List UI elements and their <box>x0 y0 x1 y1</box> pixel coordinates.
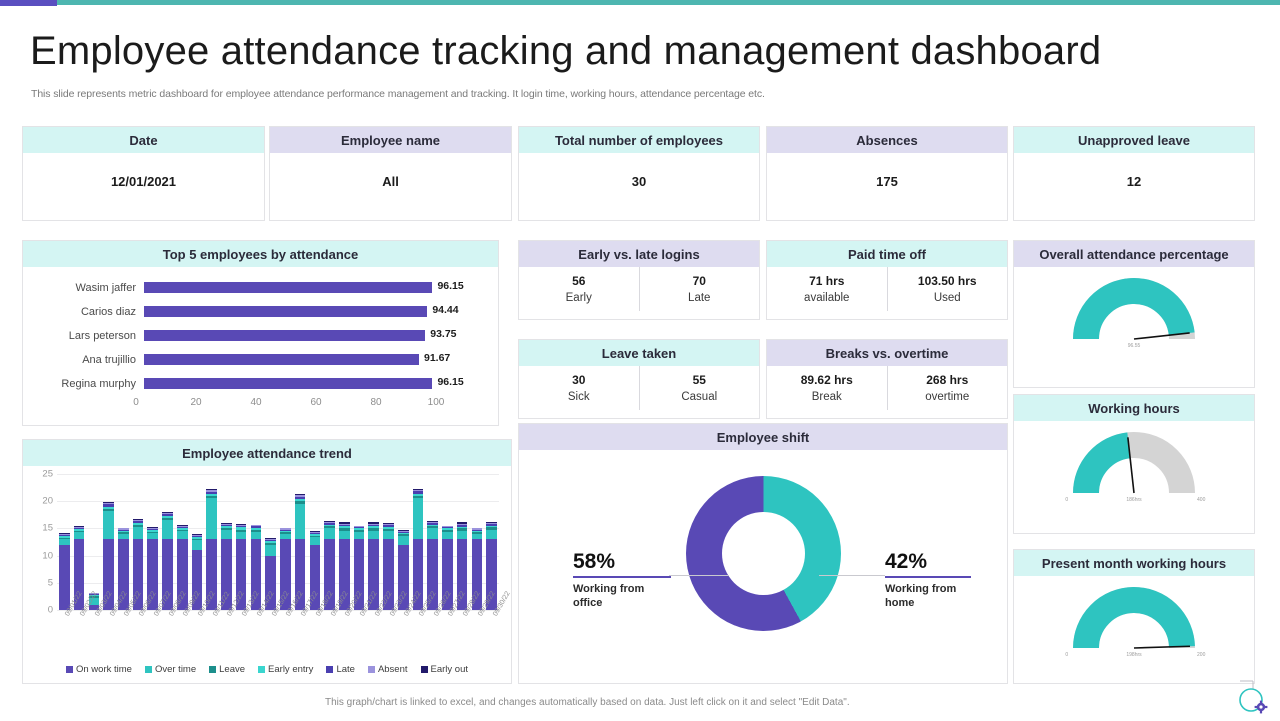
trend-bar-column <box>160 474 175 610</box>
card-title: Early vs. late logins <box>519 241 759 267</box>
trend-bar-segment <box>413 498 424 539</box>
kpi-label: Total number of employees <box>519 127 759 153</box>
card-title: Employee shift <box>519 424 1007 450</box>
top5-bar-value: 94.44 <box>432 304 458 316</box>
top5-bar-chart: Wasim jaffer96.15Carios diaz94.44Lars pe… <box>23 267 498 394</box>
top5-bar-value: 93.75 <box>430 328 456 340</box>
top5-x-tick: 60 <box>310 397 321 408</box>
kpi-card-employee-name: Employee name All <box>269 126 512 221</box>
legend-item: Late <box>326 664 355 675</box>
stat-label: Used <box>934 290 961 306</box>
stat-right: 55 Casual <box>640 366 760 410</box>
top5-bar-fill <box>144 306 427 317</box>
trend-bar-column <box>175 474 190 610</box>
gauge-value-label: 198hrs <box>1126 652 1141 658</box>
trend-bar-segment <box>295 504 306 539</box>
top5-x-tick: 40 <box>250 397 261 408</box>
top5-bar-fill <box>144 330 425 341</box>
gauge-tick: 200 <box>1197 652 1205 658</box>
footer-note: This graph/chart is linked to excel, and… <box>325 697 1025 708</box>
trend-x-tick-cell: 09/13/22 <box>234 612 249 658</box>
stat-card-early-late-logins: Early vs. late logins 56 Early 70 Late <box>518 240 760 320</box>
stat-left: 89.62 hrs Break <box>767 366 888 410</box>
top5-bar-label: Wasim jaffer <box>23 282 144 294</box>
gauge-value-label: 96.55 <box>1128 343 1141 349</box>
stat-right: 268 hrs overtime <box>888 366 1008 410</box>
trend-bar-column <box>219 474 234 610</box>
trend-x-tick-cell: 09/10/22 <box>190 612 205 658</box>
card-title: Present month working hours <box>1014 550 1254 576</box>
donut-leader-right <box>819 575 885 576</box>
gauge-value-label: 186hrs <box>1126 497 1141 503</box>
trend-bar-column <box>86 474 101 610</box>
stat-label: Casual <box>681 389 717 405</box>
trend-bar-segment <box>310 537 321 545</box>
trend-bars <box>57 474 499 610</box>
trend-bar-column <box>440 474 455 610</box>
top5-bar-track: 94.44 <box>144 301 498 322</box>
stat-value: 268 hrs <box>926 372 968 389</box>
top5-bar-value: 96.15 <box>437 376 463 388</box>
legend-item: Leave <box>209 664 245 675</box>
top5-bar-track: 93.75 <box>144 325 498 346</box>
stat-left: 56 Early <box>519 267 640 311</box>
top5-bar-fill <box>144 378 432 389</box>
stat-value: 30 <box>572 372 585 389</box>
trend-bar-segment <box>265 545 276 556</box>
trend-bar-segment <box>354 532 365 540</box>
top5-bar-row: Lars peterson93.75 <box>23 325 498 346</box>
gauge-tick: 400 <box>1197 497 1205 503</box>
legend-swatch <box>326 666 333 673</box>
trend-x-tick-cell: 09/28/22 <box>455 612 470 658</box>
trend-bar-column <box>396 474 411 610</box>
trend-bar-segment <box>133 527 144 539</box>
trend-y-tick: 10 <box>42 550 53 561</box>
legend-swatch <box>66 666 73 673</box>
card-title: Overall attendance percentage <box>1014 241 1254 267</box>
top5-x-tick: 0 <box>133 397 139 408</box>
kpi-label: Employee name <box>270 127 511 153</box>
gauge-overall-attendance: 96.55 <box>1014 267 1254 359</box>
top5-x-axis: 020406080100 <box>136 397 498 411</box>
stat-card-leave-taken: Leave taken 30 Sick 55 Casual <box>518 339 760 419</box>
trend-bar-column <box>72 474 87 610</box>
card-title: Paid time off <box>767 241 1007 267</box>
stat-label: overtime <box>925 389 969 405</box>
employee-shift-donut: 58% Working from office 42% Working from… <box>519 450 1007 662</box>
legend-item: Early out <box>421 664 469 675</box>
trend-bar-segment <box>427 528 438 539</box>
top5-x-tick: 20 <box>190 397 201 408</box>
donut-hole <box>722 512 805 595</box>
stat-right: 70 Late <box>640 267 760 311</box>
trend-bar-stack <box>59 533 70 610</box>
legend-label: Absent <box>378 664 408 675</box>
trend-bar-column <box>484 474 499 610</box>
kpi-card-unapproved-leave: Unapproved leave 12 <box>1013 126 1255 221</box>
trend-x-tick-cell: 09/12/22 <box>219 612 234 658</box>
trend-x-tick-cell: 09/27/22 <box>440 612 455 658</box>
gauge-ticks: 96.55 <box>1014 343 1254 355</box>
trend-x-tick-cell: 09/20/22 <box>337 612 352 658</box>
trend-bar-segment <box>103 511 114 539</box>
legend-label: Early out <box>431 664 469 675</box>
top5-bar-row: Ana trujillio91.67 <box>23 349 498 370</box>
stat-value: 56 <box>572 273 585 290</box>
top5-bar-fill <box>144 282 432 293</box>
trend-bar-segment <box>251 532 262 540</box>
trend-bar-column <box>204 474 219 610</box>
trend-x-tick-cell: 09/18/22 <box>307 612 322 658</box>
trend-x-axis: 09/01/2209/02/2209/03/2209/04/2209/05/22… <box>57 612 499 658</box>
top5-bar-label: Lars peterson <box>23 330 144 342</box>
legend-item: Over time <box>145 664 196 675</box>
trend-bar-column <box>381 474 396 610</box>
legend-label: On work time <box>76 664 132 675</box>
kpi-card-date: Date 12/01/2021 <box>22 126 265 221</box>
kpi-value: All <box>270 153 511 189</box>
trend-x-tick-cell: 09/17/22 <box>293 612 308 658</box>
trend-bar-segment <box>192 540 203 550</box>
trend-bar-column <box>455 474 470 610</box>
donut-caption: Working from home <box>885 582 971 610</box>
top5-bar-value: 96.15 <box>437 280 463 292</box>
page-subtitle: This slide represents metric dashboard f… <box>31 88 1131 100</box>
kpi-value: 30 <box>519 153 759 189</box>
legend-swatch <box>209 666 216 673</box>
card-title: Top 5 employees by attendance <box>23 241 498 267</box>
trend-bar-segment <box>486 530 497 540</box>
trend-x-tick-cell: 09/11/22 <box>204 612 219 658</box>
donut-pct: 42% <box>885 550 971 574</box>
legend-swatch <box>145 666 152 673</box>
trend-bar-column <box>131 474 146 610</box>
stat-label: Sick <box>568 389 590 405</box>
kpi-card-total-employees: Total number of employees 30 <box>518 126 760 221</box>
donut-caption: Working from office <box>573 582 671 610</box>
trend-bar-segment <box>177 531 188 539</box>
top5-bar-label: Regina murphy <box>23 378 144 390</box>
top-accent-segment <box>0 0 57 6</box>
trend-x-tick-cell: 09/03/22 <box>86 612 101 658</box>
top5-bar-label: Carios diaz <box>23 306 144 318</box>
stat-card-paid-time-off: Paid time off 71 hrs available 103.50 hr… <box>766 240 1008 320</box>
gauge-tick: 0 <box>1065 497 1068 503</box>
trend-bar-column <box>263 474 278 610</box>
top5-bar-row: Carios diaz94.44 <box>23 301 498 322</box>
top5-attendance-card: Top 5 employees by attendance Wasim jaff… <box>22 240 499 426</box>
page-title: Employee attendance tracking and managem… <box>30 29 1230 74</box>
card-title: Breaks vs. overtime <box>767 340 1007 366</box>
trend-bar-column <box>322 474 337 610</box>
top5-bar-label: Ana trujillio <box>23 354 144 366</box>
trend-bar-segment <box>442 532 453 540</box>
stat-left: 30 Sick <box>519 366 640 410</box>
top5-bar-track: 96.15 <box>144 277 498 298</box>
trend-bar-column <box>234 474 249 610</box>
stat-value: 70 <box>693 273 706 290</box>
legend-item: Early entry <box>258 664 313 675</box>
top5-bar-track: 96.15 <box>144 373 498 394</box>
trend-x-tick-cell: 09/05/22 <box>116 612 131 658</box>
employee-shift-card: Employee shift 58% Working from office 4… <box>518 423 1008 684</box>
trend-x-tick-cell: 09/25/22 <box>411 612 426 658</box>
card-title: Leave taken <box>519 340 759 366</box>
kpi-value: 175 <box>767 153 1007 189</box>
trend-bar-column <box>278 474 293 610</box>
trend-bar-segment <box>59 545 70 610</box>
trend-x-tick-cell: 09/02/22 <box>72 612 87 658</box>
trend-bar-segment <box>221 530 232 540</box>
legend-swatch <box>368 666 375 673</box>
top5-bar-value: 91.67 <box>424 352 450 364</box>
kpi-card-absences: Absences 175 <box>766 126 1008 221</box>
stat-label: Break <box>812 389 842 405</box>
trend-bar-segment <box>457 531 468 540</box>
trend-x-tick-cell: 09/16/22 <box>278 612 293 658</box>
trend-bar-column <box>307 474 322 610</box>
trend-bar-column <box>470 474 485 610</box>
gauge-card-present-month: Present month working hours 0198hrs200 <box>1013 549 1255 684</box>
legend-label: Late <box>336 664 355 675</box>
legend-label: Over time <box>155 664 196 675</box>
trend-bar-column <box>293 474 308 610</box>
trend-x-tick-cell: 09/04/22 <box>101 612 116 658</box>
trend-bar-column <box>411 474 426 610</box>
underline <box>885 576 971 578</box>
trend-bar-segment <box>236 532 247 540</box>
stat-value: 55 <box>693 372 706 389</box>
trend-x-tick-cell: 09/01/22 <box>57 612 72 658</box>
trend-bar-column <box>101 474 116 610</box>
donut-label-office: 58% Working from office <box>573 550 671 610</box>
stat-label: Early <box>566 290 592 306</box>
trend-bar-segment <box>383 531 394 539</box>
kpi-label: Absences <box>767 127 1007 153</box>
trend-x-tick-cell: 09/06/22 <box>131 612 146 658</box>
trend-bar-segment <box>339 531 350 540</box>
legend-label: Early entry <box>268 664 313 675</box>
legend-swatch <box>258 666 265 673</box>
legend-swatch <box>421 666 428 673</box>
trend-x-tick-cell: 09/15/22 <box>263 612 278 658</box>
trend-bar-column <box>116 474 131 610</box>
gauge-tick: 0 <box>1065 652 1068 658</box>
gauge-ticks: 0198hrs200 <box>1014 652 1254 664</box>
top-accent-bar <box>0 0 1280 5</box>
legend-label: Leave <box>219 664 245 675</box>
trend-x-tick-cell: 09/29/22 <box>470 612 485 658</box>
stat-value: 103.50 hrs <box>918 273 977 290</box>
edit-data-gear-icon[interactable] <box>1234 680 1274 716</box>
trend-bar-column <box>366 474 381 610</box>
top5-bar-track: 91.67 <box>144 349 498 370</box>
gauge-present-month: 0198hrs200 <box>1014 576 1254 668</box>
stat-label: Late <box>688 290 710 306</box>
donut-leader-left <box>669 575 729 576</box>
stat-value: 71 hrs <box>809 273 844 290</box>
top5-bar-row: Regina murphy96.15 <box>23 373 498 394</box>
legend-item: On work time <box>66 664 132 675</box>
gauge-card-overall-attendance: Overall attendance percentage 96.55 <box>1013 240 1255 388</box>
gauge-arc <box>1071 427 1197 506</box>
trend-y-axis: 0510152025 <box>29 474 55 610</box>
trend-bar-column <box>249 474 264 610</box>
gauge-arc <box>1071 273 1197 352</box>
trend-bar-column <box>145 474 160 610</box>
kpi-label: Date <box>23 127 264 153</box>
trend-bar-segment <box>162 520 173 539</box>
trend-bar-column <box>57 474 72 610</box>
underline <box>573 576 671 578</box>
stat-right: 103.50 hrs Used <box>888 267 1008 311</box>
donut-label-home: 42% Working from home <box>885 550 971 610</box>
trend-x-tick-cell: 09/26/22 <box>425 612 440 658</box>
stat-card-breaks-overtime: Breaks vs. overtime 89.62 hrs Break 268 … <box>766 339 1008 419</box>
stat-left: 71 hrs available <box>767 267 888 311</box>
stat-label: available <box>804 290 849 306</box>
attendance-trend-card: Employee attendance trend 0510152025 09/… <box>22 439 512 684</box>
trend-x-tick-cell: 09/19/22 <box>322 612 337 658</box>
trend-y-tick: 20 <box>42 496 53 507</box>
card-title: Working hours <box>1014 395 1254 421</box>
trend-x-tick-cell: 09/21/22 <box>352 612 367 658</box>
trend-bar-segment <box>206 498 217 539</box>
trend-bar-column <box>337 474 352 610</box>
trend-bar-column <box>352 474 367 610</box>
kpi-value: 12 <box>1014 153 1254 189</box>
trend-y-tick: 25 <box>42 469 53 480</box>
trend-legend: On work timeOver timeLeaveEarly entryLat… <box>23 664 511 675</box>
trend-y-tick: 5 <box>48 577 53 588</box>
trend-x-tick-cell: 09/24/22 <box>396 612 411 658</box>
kpi-label: Unapproved leave <box>1014 127 1254 153</box>
stat-value: 89.62 hrs <box>801 372 853 389</box>
top5-bar-fill <box>144 354 419 365</box>
trend-bar-column <box>190 474 205 610</box>
top5-x-tick: 80 <box>370 397 381 408</box>
kpi-value: 12/01/2021 <box>23 153 264 189</box>
donut-pct: 58% <box>573 550 671 574</box>
gauge-ticks: 0186hrs400 <box>1014 497 1254 509</box>
top5-bar-row: Wasim jaffer96.15 <box>23 277 498 298</box>
gauge-arc <box>1071 582 1197 661</box>
top5-x-tick: 100 <box>428 397 445 408</box>
trend-bar-column <box>425 474 440 610</box>
trend-x-tick-cell: 09/08/22 <box>160 612 175 658</box>
gauge-working-hours: 0186hrs400 <box>1014 421 1254 513</box>
trend-x-tick-cell: 09/30/22 <box>484 612 499 658</box>
trend-bar-segment <box>324 528 335 539</box>
legend-item: Absent <box>368 664 408 675</box>
trend-y-tick: 0 <box>48 605 53 616</box>
trend-x-tick-cell: 09/23/22 <box>381 612 396 658</box>
gauge-card-working-hours: Working hours 0186hrs400 <box>1013 394 1255 534</box>
trend-x-tick-cell: 09/09/22 <box>175 612 190 658</box>
trend-bar-segment <box>74 532 85 539</box>
trend-bar-segment <box>368 531 379 540</box>
trend-bar-segment <box>398 536 409 545</box>
trend-x-tick-cell: 09/22/22 <box>366 612 381 658</box>
trend-x-tick-cell: 09/07/22 <box>145 612 160 658</box>
card-title: Employee attendance trend <box>23 440 511 466</box>
trend-y-tick: 15 <box>42 523 53 534</box>
trend-x-tick-cell: 09/14/22 <box>249 612 264 658</box>
attendance-trend-chart: 0510152025 09/01/2209/02/2209/03/2209/04… <box>29 474 505 634</box>
